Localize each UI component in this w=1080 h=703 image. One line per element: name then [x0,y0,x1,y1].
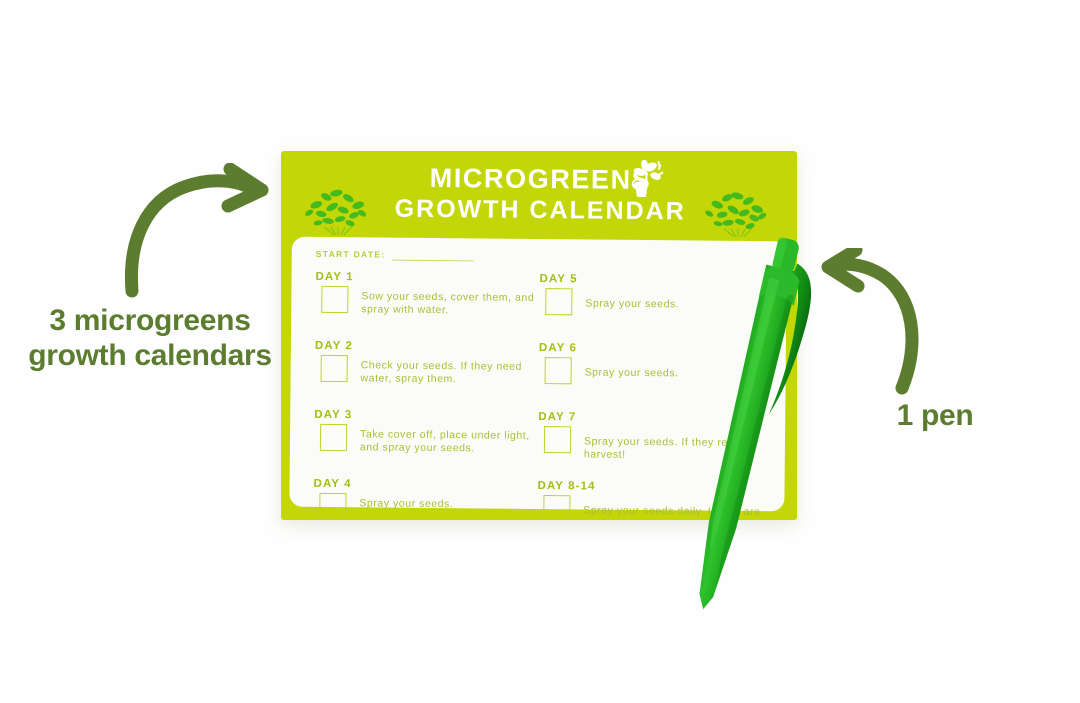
day-checkbox[interactable] [321,355,348,382]
curved-arrow-left-icon [818,248,938,398]
day-text: Sow your seeds, cover them, and spray wi… [361,290,547,318]
microgreens-sprig-icon-left [300,183,374,236]
day-item: DAY 4 Spray your seeds. [313,478,546,520]
day-label: DAY 2 [315,340,547,354]
sprout-in-pot-icon [628,160,664,200]
day-label: DAY 3 [314,409,546,423]
ballpoint-pen [655,228,835,638]
day-text: Spray your seeds. [359,497,453,511]
caption-right: 1 pen [845,398,1025,433]
day-checkbox[interactable] [544,426,571,453]
day-checkbox[interactable] [319,493,346,520]
day-text: Take cover off, place under light, and s… [360,428,546,456]
start-date-label: START DATE: [316,249,386,260]
day-checkbox[interactable] [321,286,348,313]
day-item: DAY 2 Check your seeds. If they need wat… [314,340,547,411]
day-label: DAY 1 [315,271,547,285]
day-item: DAY 1 Sow your seeds, cover them, and sp… [315,271,548,342]
curved-arrow-right-icon [122,163,282,298]
start-date-input[interactable] [392,260,474,262]
day-label: DAY 4 [314,478,546,492]
caption-left: 3 microgreens growth calendars [6,303,294,374]
product-image-canvas: 3 microgreens growth calendars 1 pen MIC… [0,0,1080,703]
day-item: DAY 3 Take cover off, place under light,… [314,409,547,480]
day-checkbox[interactable] [545,288,572,315]
days-column-left: DAY 1 Sow your seeds, cover them, and sp… [313,271,548,520]
day-checkbox[interactable] [320,424,347,451]
day-text: Check your seeds. If they need water, sp… [361,359,547,387]
day-checkbox[interactable] [543,495,570,520]
day-checkbox[interactable] [545,357,572,384]
